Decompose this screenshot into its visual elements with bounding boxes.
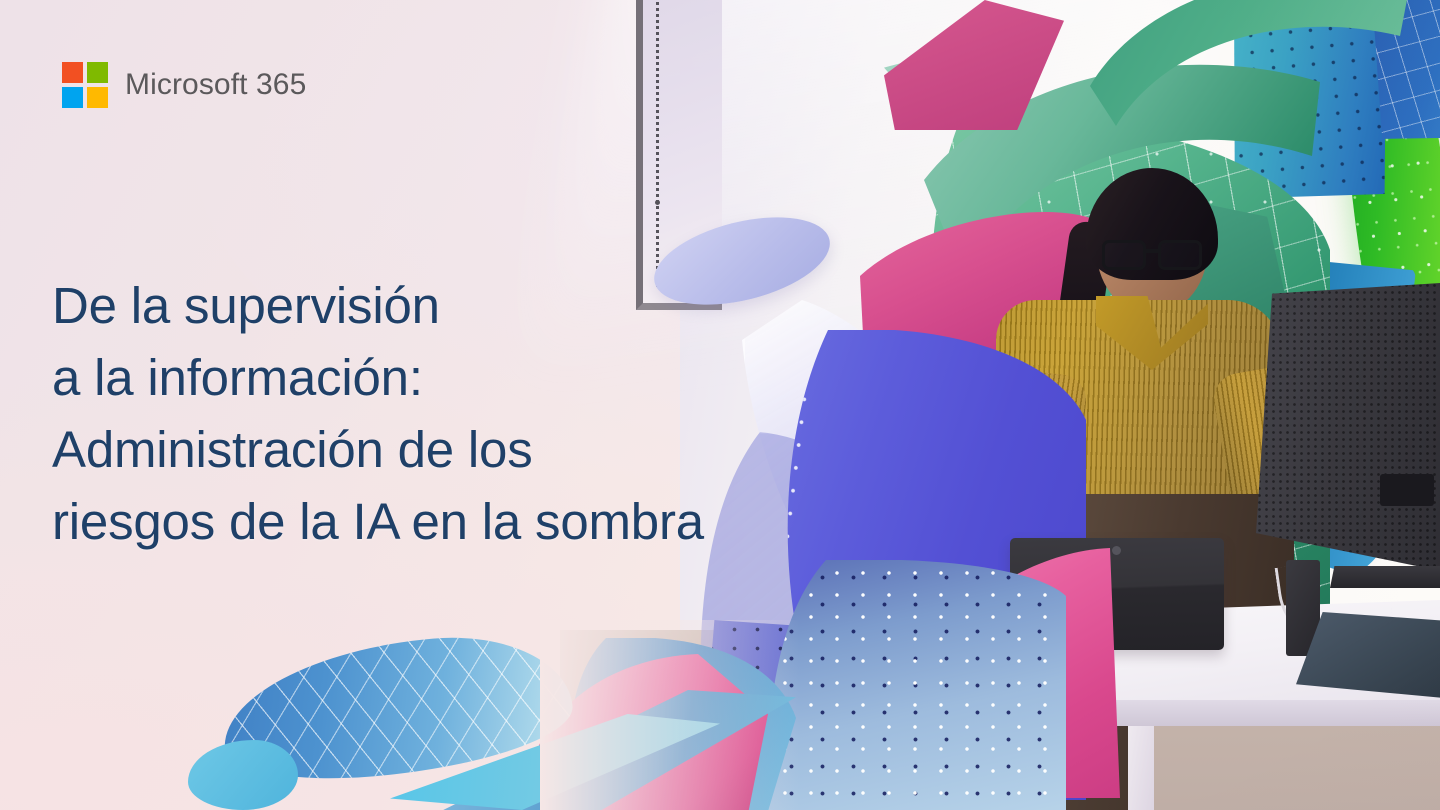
title-line-2: a la información: [52,342,812,414]
title-line-3: Administración de los [52,414,812,486]
desk-leg [1128,726,1154,810]
lens-right [1158,240,1202,270]
tablet-camera-icon [1112,546,1121,555]
brand-name: Microsoft 365 [125,68,306,102]
eyeglasses-icon [1102,240,1208,270]
blind-chain-icon [656,0,659,290]
logo-square-top-left [62,62,83,83]
lens-left [1102,240,1146,270]
logo-square-bottom-left [62,87,83,108]
title-line-4: riesgos de la IA en la sombra [52,486,812,558]
page-title: De la supervisión a la información: Admi… [52,270,812,558]
monitor-perforation-texture [1256,282,1440,574]
logo-square-top-right [87,62,108,83]
microsoft-logo-icon [62,62,108,108]
monitor-port-panel [1380,474,1434,506]
external-monitor [1256,282,1440,574]
slide-canvas: Microsoft 365 De la supervisión a la inf… [0,0,1440,810]
floor-fade [540,620,800,810]
star-texture [766,560,1066,810]
logo-square-bottom-right [87,87,108,108]
brand-lockup: Microsoft 365 [62,62,306,108]
title-line-1: De la supervisión [52,270,812,342]
abstract-starry-petal [766,560,1066,810]
